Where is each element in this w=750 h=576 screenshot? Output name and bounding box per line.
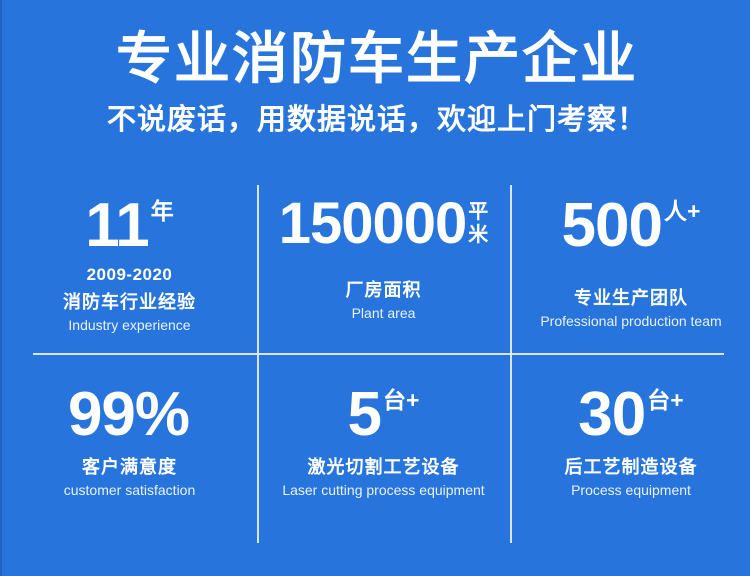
- stat-number: 30: [578, 384, 645, 446]
- stat-label-en: Professional production team: [540, 312, 721, 330]
- stat-unit-line-2: 米: [468, 224, 488, 247]
- stat-cell-laser-cutting-equipment: 5 台+ 激光切割工艺设备 Laser cutting process equi…: [257, 354, 510, 545]
- stat-unit: 年: [149, 195, 174, 224]
- stat-label-en: Laser cutting process equipment: [282, 481, 484, 499]
- stat-label-en: Industry experience: [68, 316, 190, 334]
- stat-unit-line-1: 平: [468, 201, 488, 224]
- stat-label-cn: 客户满意度: [82, 456, 177, 478]
- stat-number: 99%: [68, 384, 189, 446]
- stat-cell-plant-area: 150000 平 米 厂房面积 Plant area: [257, 185, 510, 354]
- stat-unit: 台+: [645, 384, 683, 413]
- stat-number: 5: [348, 384, 381, 446]
- stat-unit: [189, 384, 191, 388]
- stat-unit: 台+: [381, 384, 419, 413]
- stat-unit: 人+: [662, 195, 700, 224]
- stat-value: 11 年: [85, 195, 174, 257]
- stat-label-cn: 后工艺制造设备: [565, 456, 698, 478]
- stat-value: 5 台+: [348, 384, 420, 446]
- stat-label-cn: 激光切割工艺设备: [308, 456, 460, 478]
- stat-number: 500: [562, 195, 662, 257]
- stat-value: 99%: [68, 384, 191, 446]
- stat-value: 500 人+: [562, 195, 701, 257]
- stat-label-cn: 厂房面积: [346, 279, 422, 301]
- stat-label-en: customer satisfaction: [64, 481, 196, 499]
- stats-grid: 11 年 2009-2020 消防车行业经验 Industry experien…: [2, 185, 750, 545]
- stat-cell-industry-experience: 11 年 2009-2020 消防车行业经验 Industry experien…: [2, 185, 257, 354]
- stat-cell-process-equipment: 30 台+ 后工艺制造设备 Process equipment: [510, 354, 750, 545]
- stat-cell-customer-satisfaction: 99% 客户满意度 customer satisfaction: [2, 354, 257, 545]
- stat-number: 150000: [279, 195, 467, 253]
- stat-number: 11: [85, 195, 149, 257]
- stat-year-range: 2009-2020: [87, 265, 173, 285]
- stat-value: 150000 平 米: [279, 195, 489, 253]
- stat-label-en: Plant area: [352, 304, 416, 322]
- page-title: 专业消防车生产企业: [2, 0, 750, 90]
- page-subtitle: 不说废话，用数据说话，欢迎上门考察！: [2, 90, 750, 138]
- stat-label-en: Process equipment: [571, 481, 691, 499]
- stat-unit: 平 米: [466, 195, 488, 247]
- stat-cell-production-team: 500 人+ 专业生产团队 Professional production te…: [510, 185, 750, 354]
- promo-banner: 专业消防车生产企业 不说废话，用数据说话，欢迎上门考察！ 11 年 2009-2…: [0, 0, 750, 576]
- stat-label-cn: 专业生产团队: [574, 287, 688, 309]
- stat-value: 30 台+: [578, 384, 683, 446]
- banner-header: 专业消防车生产企业 不说废话，用数据说话，欢迎上门考察！: [2, 0, 750, 138]
- stat-label-cn: 消防车行业经验: [63, 291, 196, 313]
